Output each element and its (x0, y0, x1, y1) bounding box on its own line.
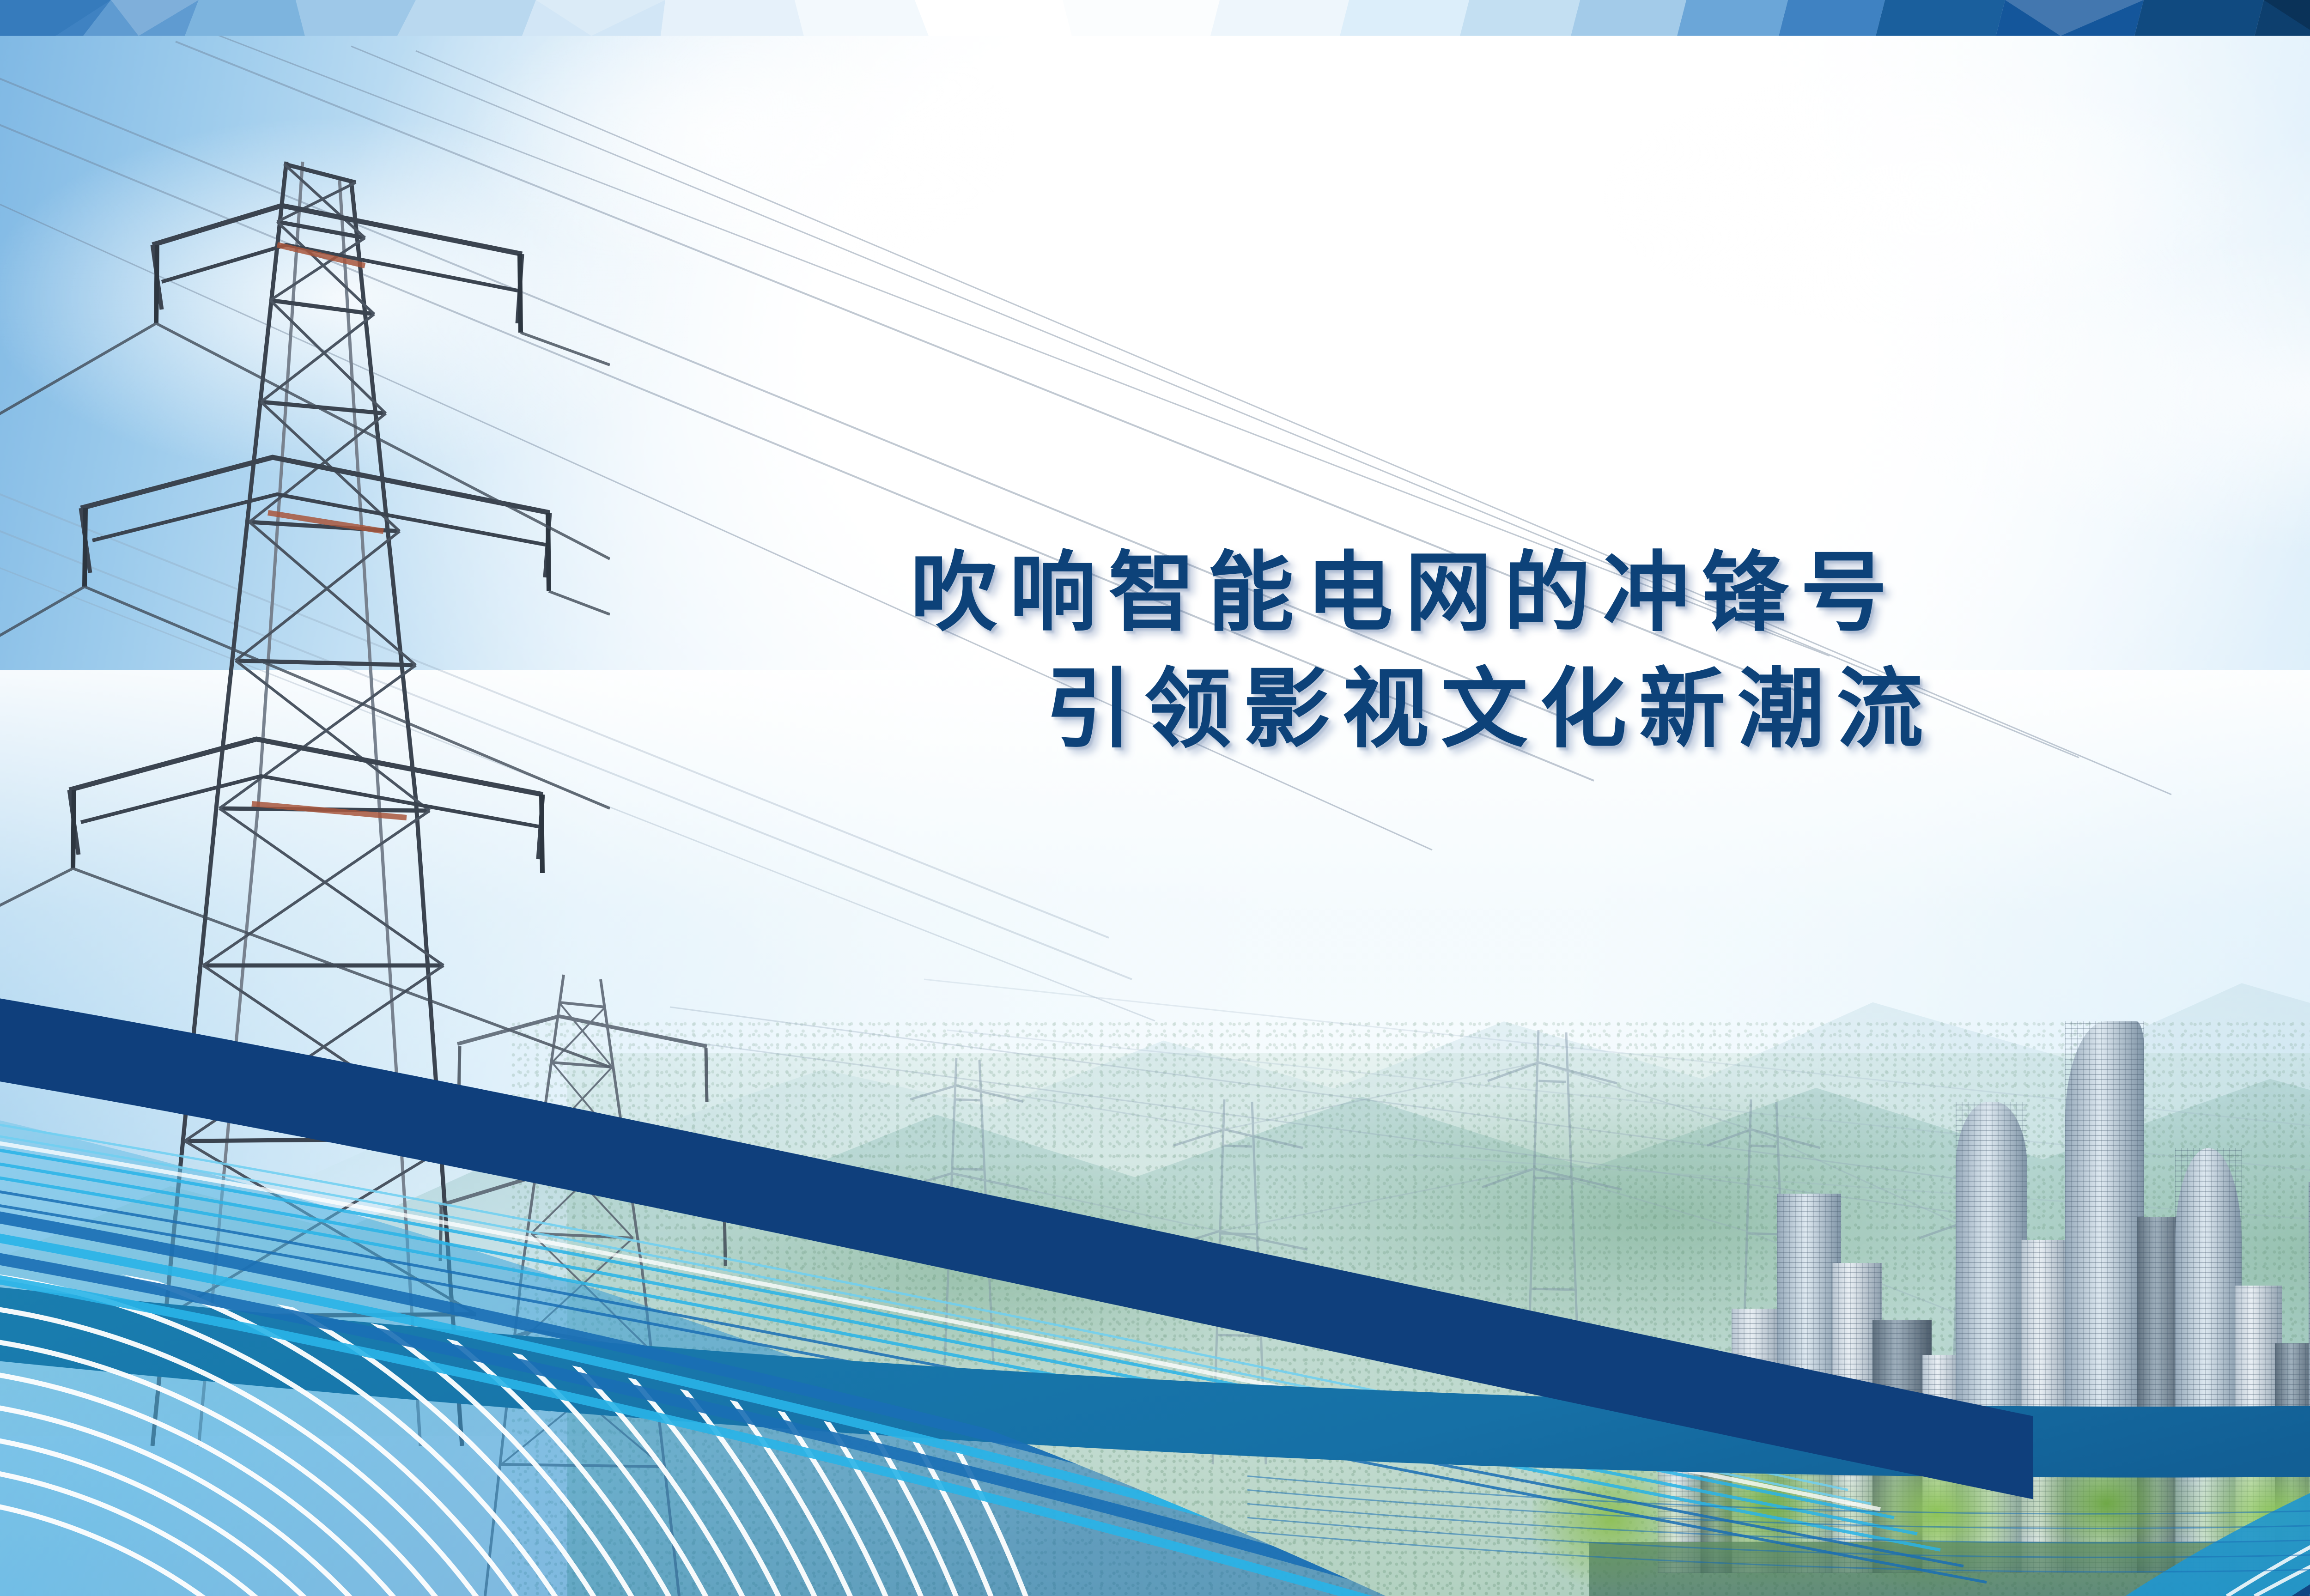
poster-banner: 吹响智能电网的冲锋号 引领影视文化新潮流 (0, 0, 2310, 1596)
bottom-wave-ribbons (0, 862, 2310, 1596)
top-lowpoly-band (0, 0, 2310, 36)
